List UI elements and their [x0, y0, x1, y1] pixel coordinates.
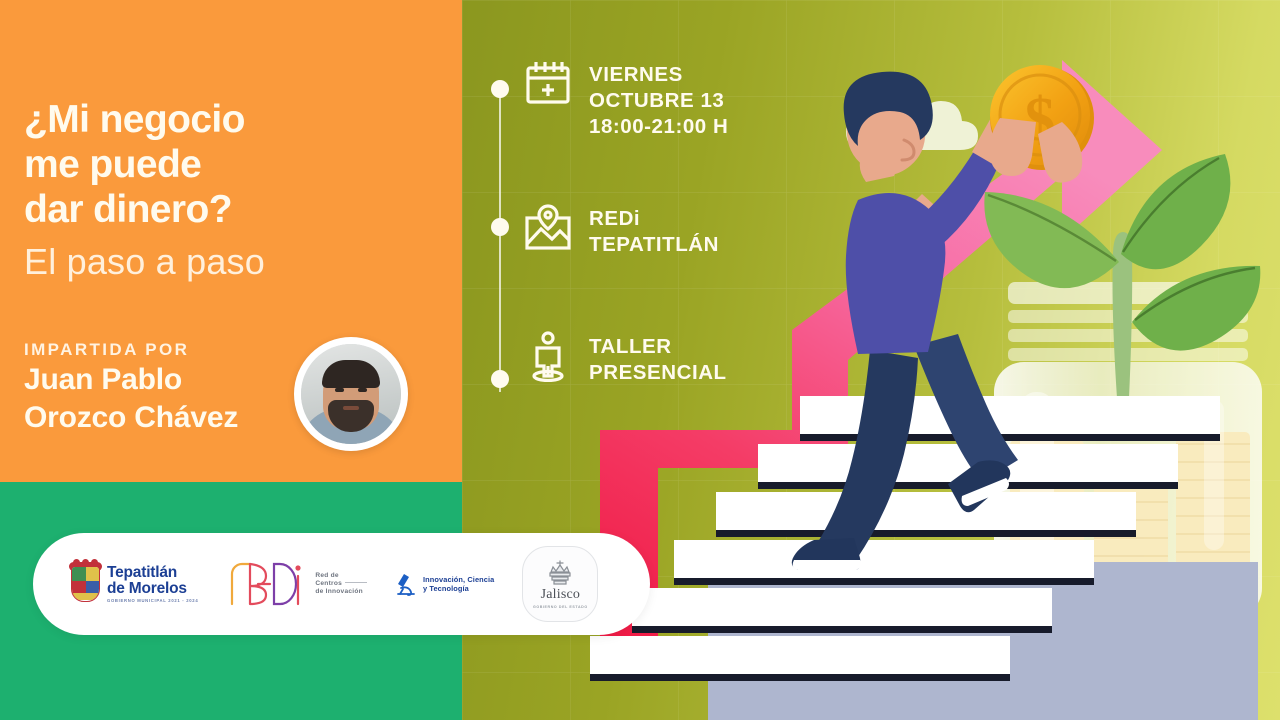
- page-subtitle: El paso a paso: [24, 242, 444, 282]
- tepatitlan-wordmark: Tepatitlán de Morelos GOBIERNO MUNICIPAL…: [107, 565, 198, 603]
- redi-tagline: Red de Centros de Innovación: [315, 572, 367, 597]
- map-pin-icon: [524, 202, 572, 254]
- redi-mark-icon: [228, 560, 306, 608]
- avatar-hair: [322, 360, 380, 388]
- detail-line: PRESENCIAL: [589, 360, 727, 386]
- avatar-photo: [301, 344, 401, 444]
- event-date-text: VIERNES OCTUBRE 13 18:00-21:00 H: [589, 58, 728, 141]
- title-line-1: ¿Mi negocio: [24, 97, 444, 142]
- person-standing-icon: [524, 330, 572, 382]
- redi-line-3: de Innovación: [315, 588, 367, 596]
- coat-of-arms-icon: [71, 566, 100, 602]
- crown-icon: [546, 560, 574, 586]
- avatar: [294, 337, 408, 451]
- redi-line-1: Red de: [315, 572, 367, 580]
- avatar-eye-right: [358, 388, 367, 392]
- timeline-dot-3: [491, 370, 509, 388]
- icyt-line-2: y Tecnología: [423, 584, 494, 593]
- logo-jalisco: Jalisco GOBIERNO DEL ESTADO: [522, 546, 598, 622]
- detail-line: REDi: [589, 206, 719, 232]
- detail-line: TALLER: [589, 334, 727, 360]
- sponsor-logo-bar: Tepatitlán de Morelos GOBIERNO MUNICIPAL…: [33, 533, 650, 635]
- detail-line: TEPATITLÁN: [589, 232, 719, 258]
- event-detail-date: VIERNES OCTUBRE 13 18:00-21:00 H: [524, 58, 824, 141]
- icyt-line-1: Innovación, Ciencia: [423, 575, 494, 584]
- icyt-wordmark: Innovación, Ciencia y Tecnología: [423, 575, 494, 593]
- jalisco-subtitle: GOBIERNO DEL ESTADO: [533, 605, 588, 609]
- detail-line: 18:00-21:00 H: [589, 114, 728, 140]
- timeline-line: [499, 84, 501, 392]
- timeline-connector: [497, 80, 503, 396]
- redi-line-2: Centros: [315, 580, 367, 588]
- page-title: ¿Mi negocio me puede dar dinero? El paso…: [24, 97, 444, 281]
- timeline-dot-2: [491, 218, 509, 236]
- logo-tepatitlan-de-morelos: Tepatitlán de Morelos GOBIERNO MUNICIPAL…: [71, 565, 198, 603]
- event-details: VIERNES OCTUBRE 13 18:00-21:00 H REDi TE…: [524, 58, 824, 387]
- calendar-icon: [524, 58, 572, 110]
- tepatitlan-line-1: Tepatitlán: [107, 565, 198, 581]
- detail-line: VIERNES: [589, 62, 728, 88]
- logo-innovacion-ciencia-tecnologia: Innovación, Ciencia y Tecnología: [395, 571, 494, 597]
- tepatitlan-line-2: de Morelos: [107, 581, 198, 597]
- event-detail-venue: REDi TEPATITLÁN: [524, 202, 824, 258]
- title-line-2: me puede: [24, 142, 444, 187]
- event-format-text: TALLER PRESENCIAL: [589, 330, 727, 386]
- tepatitlan-line-3: GOBIERNO MUNICIPAL 2021 - 2024: [107, 599, 198, 603]
- avatar-eye-left: [335, 388, 344, 392]
- jalisco-wordmark: Jalisco: [541, 587, 581, 603]
- avatar-mouth: [343, 406, 359, 410]
- detail-line: OCTUBRE 13: [589, 88, 728, 114]
- event-detail-format: TALLER PRESENCIAL: [524, 330, 824, 386]
- timeline-dot-1: [491, 80, 509, 98]
- flyer-canvas: $ VIERNES: [0, 0, 1280, 720]
- logo-redi: Red de Centros de Innovación: [228, 560, 367, 608]
- microscope-icon: [395, 571, 417, 597]
- title-line-3: dar dinero?: [24, 187, 444, 232]
- event-venue-text: REDi TEPATITLÁN: [589, 202, 719, 258]
